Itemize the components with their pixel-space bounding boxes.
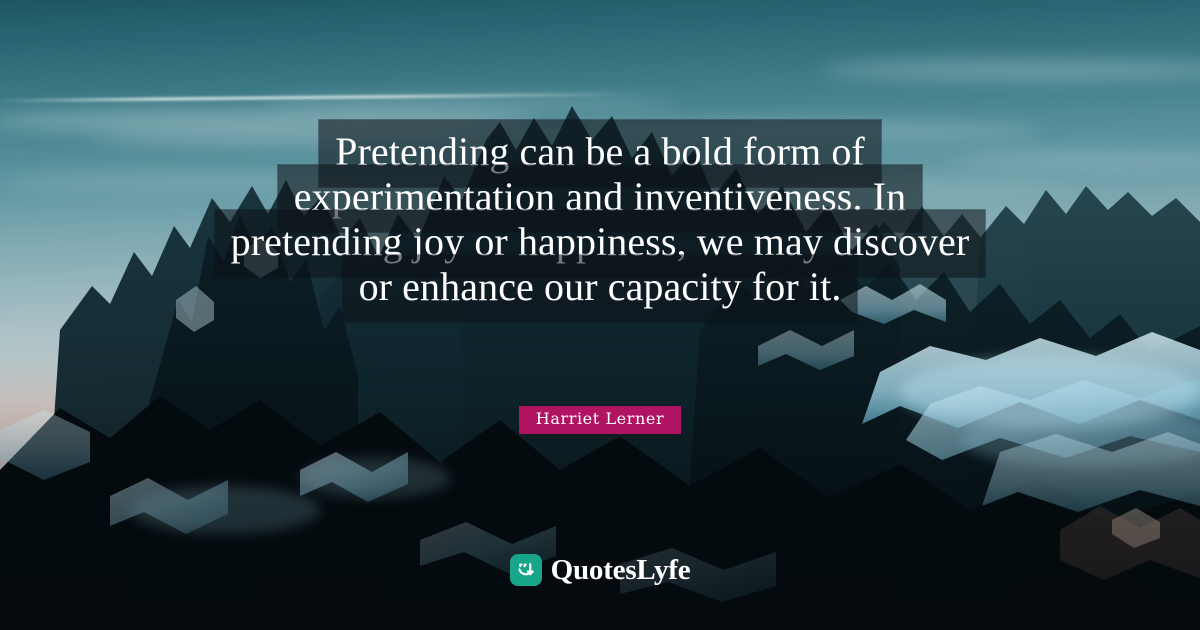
brand-logo[interactable]: QuotesLyfe — [0, 554, 1200, 586]
quote-block: Pretending can be a bold form of experim… — [0, 132, 1200, 312]
quote-card: Pretending can be a bold form of experim… — [0, 0, 1200, 630]
author-badge[interactable]: Harriet Lerner — [519, 406, 681, 434]
quote-line: or enhance our capacity for it. — [0, 267, 1200, 307]
brand-wordmark: QuotesLyfe — [551, 556, 691, 585]
quote-smiley-icon — [510, 554, 542, 586]
author-area: Harriet Lerner — [0, 406, 1200, 434]
quote-line-text: or enhance our capacity for it. — [343, 255, 858, 322]
snow-highlight — [130, 486, 320, 534]
snow-highlight — [300, 458, 450, 498]
